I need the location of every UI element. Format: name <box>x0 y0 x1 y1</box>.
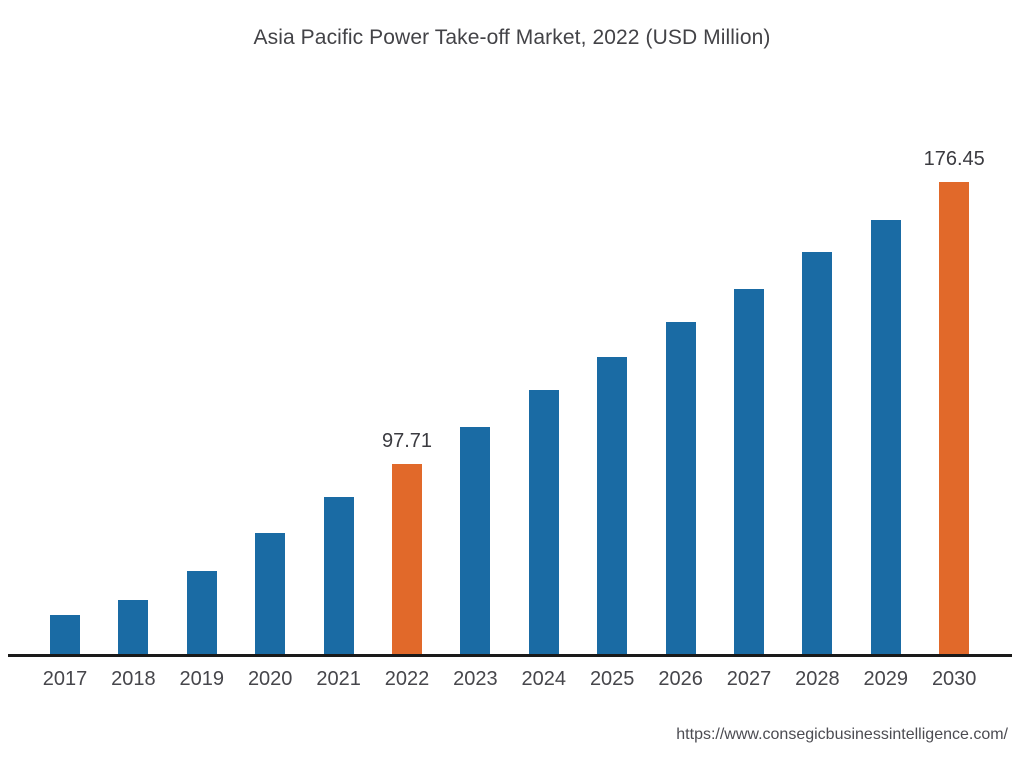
x-tick-2030: 2030 <box>919 668 989 691</box>
bar-group: 176.45 <box>919 0 989 656</box>
x-tick-2021: 2021 <box>304 668 374 691</box>
bar-value-label-2030: 176.45 <box>924 148 985 171</box>
bar-2024[interactable] <box>529 390 559 656</box>
x-tick-2024: 2024 <box>509 668 579 691</box>
bar-value-label-2022: 97.71 <box>382 430 432 453</box>
x-tick-2018: 2018 <box>98 668 168 691</box>
bar-2023[interactable] <box>460 427 490 656</box>
bar-group <box>30 0 100 656</box>
x-tick-2019: 2019 <box>167 668 237 691</box>
bar-group <box>782 0 852 656</box>
plot-area: 97.71176.45 <box>0 0 1024 656</box>
x-tick-2020: 2020 <box>235 668 305 691</box>
bar-2018[interactable] <box>118 600 148 656</box>
bar-2027[interactable] <box>734 289 764 656</box>
bar-group <box>646 0 716 656</box>
bar-group <box>577 0 647 656</box>
bar-group <box>304 0 374 656</box>
x-tick-2026: 2026 <box>646 668 716 691</box>
x-tick-2029: 2029 <box>851 668 921 691</box>
x-axis-line <box>8 654 1012 657</box>
bar-group <box>851 0 921 656</box>
source-url: https://www.consegicbusinessintelligence… <box>676 726 1008 744</box>
bar-group: 97.71 <box>372 0 442 656</box>
bar-group <box>235 0 305 656</box>
bar-2022[interactable] <box>392 464 422 656</box>
bar-2028[interactable] <box>802 252 832 656</box>
bar-group <box>714 0 784 656</box>
bar-2020[interactable] <box>255 533 285 656</box>
bar-2030[interactable] <box>939 182 969 656</box>
x-tick-2027: 2027 <box>714 668 784 691</box>
bar-2021[interactable] <box>324 497 354 656</box>
chart-figure: Asia Pacific Power Take-off Market, 2022… <box>0 0 1024 768</box>
bar-2026[interactable] <box>666 322 696 656</box>
x-tick-2025: 2025 <box>577 668 647 691</box>
bar-2029[interactable] <box>871 220 901 656</box>
bar-group <box>167 0 237 656</box>
bar-2019[interactable] <box>187 571 217 656</box>
x-tick-2023: 2023 <box>440 668 510 691</box>
x-axis-tick-labels: 2017201820192020202120222023202420252026… <box>0 668 1024 702</box>
x-tick-2028: 2028 <box>782 668 852 691</box>
bar-group <box>440 0 510 656</box>
bar-2017[interactable] <box>50 615 80 656</box>
x-tick-2022: 2022 <box>372 668 442 691</box>
bar-2025[interactable] <box>597 357 627 656</box>
bar-group <box>98 0 168 656</box>
bar-group <box>509 0 579 656</box>
x-tick-2017: 2017 <box>30 668 100 691</box>
